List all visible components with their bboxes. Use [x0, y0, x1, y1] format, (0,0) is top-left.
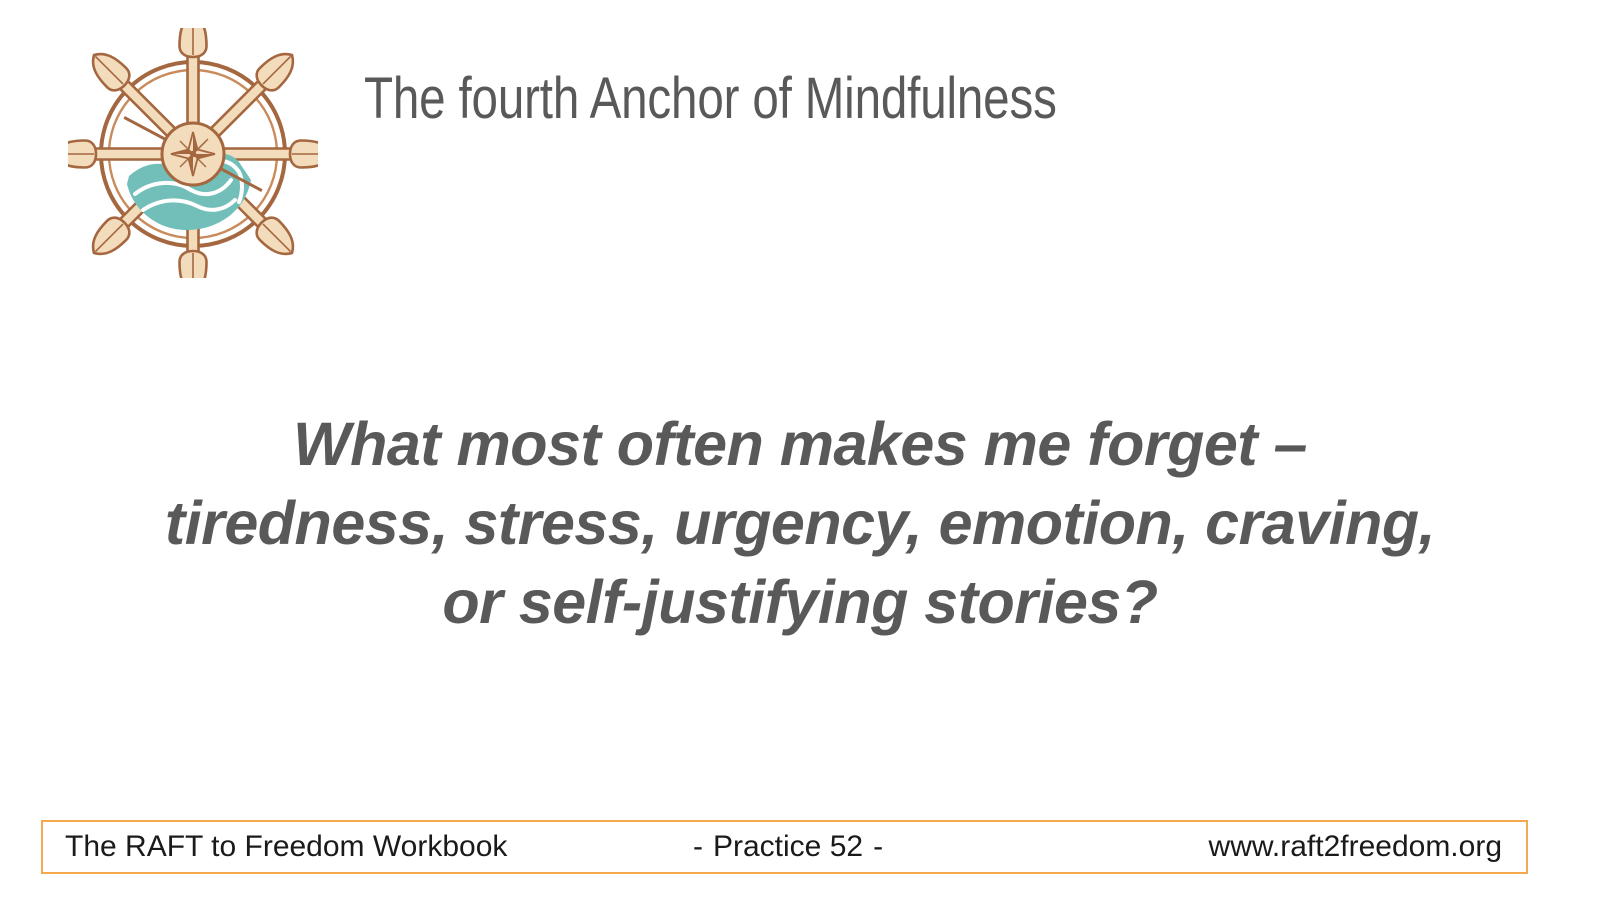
footer-practice-label: -Practice 52-	[683, 830, 893, 863]
footer-right-group: www.raft2freedom.org	[1209, 830, 1502, 864]
slide-canvas: The fourth Anchor of Mindfulness What mo…	[0, 0, 1600, 900]
footer-website-url[interactable]: www.raft2freedom.org	[1209, 830, 1502, 863]
page-title: The fourth Anchor of Mindfulness	[364, 66, 1307, 133]
footer-workbook-title: The RAFT to Freedom Workbook	[65, 830, 507, 863]
reflection-question-line-1: What most often makes me forget –	[60, 405, 1540, 484]
footer-practice-number: Practice 52	[713, 830, 863, 863]
footer-bar: The RAFT to Freedom Workbook -Practice 5…	[41, 820, 1528, 874]
reflection-question-block: What most often makes me forget – tiredn…	[60, 405, 1540, 642]
footer-content: The RAFT to Freedom Workbook -Practice 5…	[43, 822, 1526, 872]
reflection-question-line-2: tiredness, stress, urgency, emotion, cra…	[60, 484, 1540, 563]
footer-dash-right: -	[863, 830, 893, 864]
raft-to-freedom-wheel-logo-icon	[68, 28, 318, 278]
footer-center-group: -Practice 52-	[683, 830, 893, 864]
footer-left-group: The RAFT to Freedom Workbook	[65, 830, 507, 864]
reflection-question-line-3: or self-justifying stories?	[60, 563, 1540, 642]
footer-dash-left: -	[683, 830, 713, 864]
